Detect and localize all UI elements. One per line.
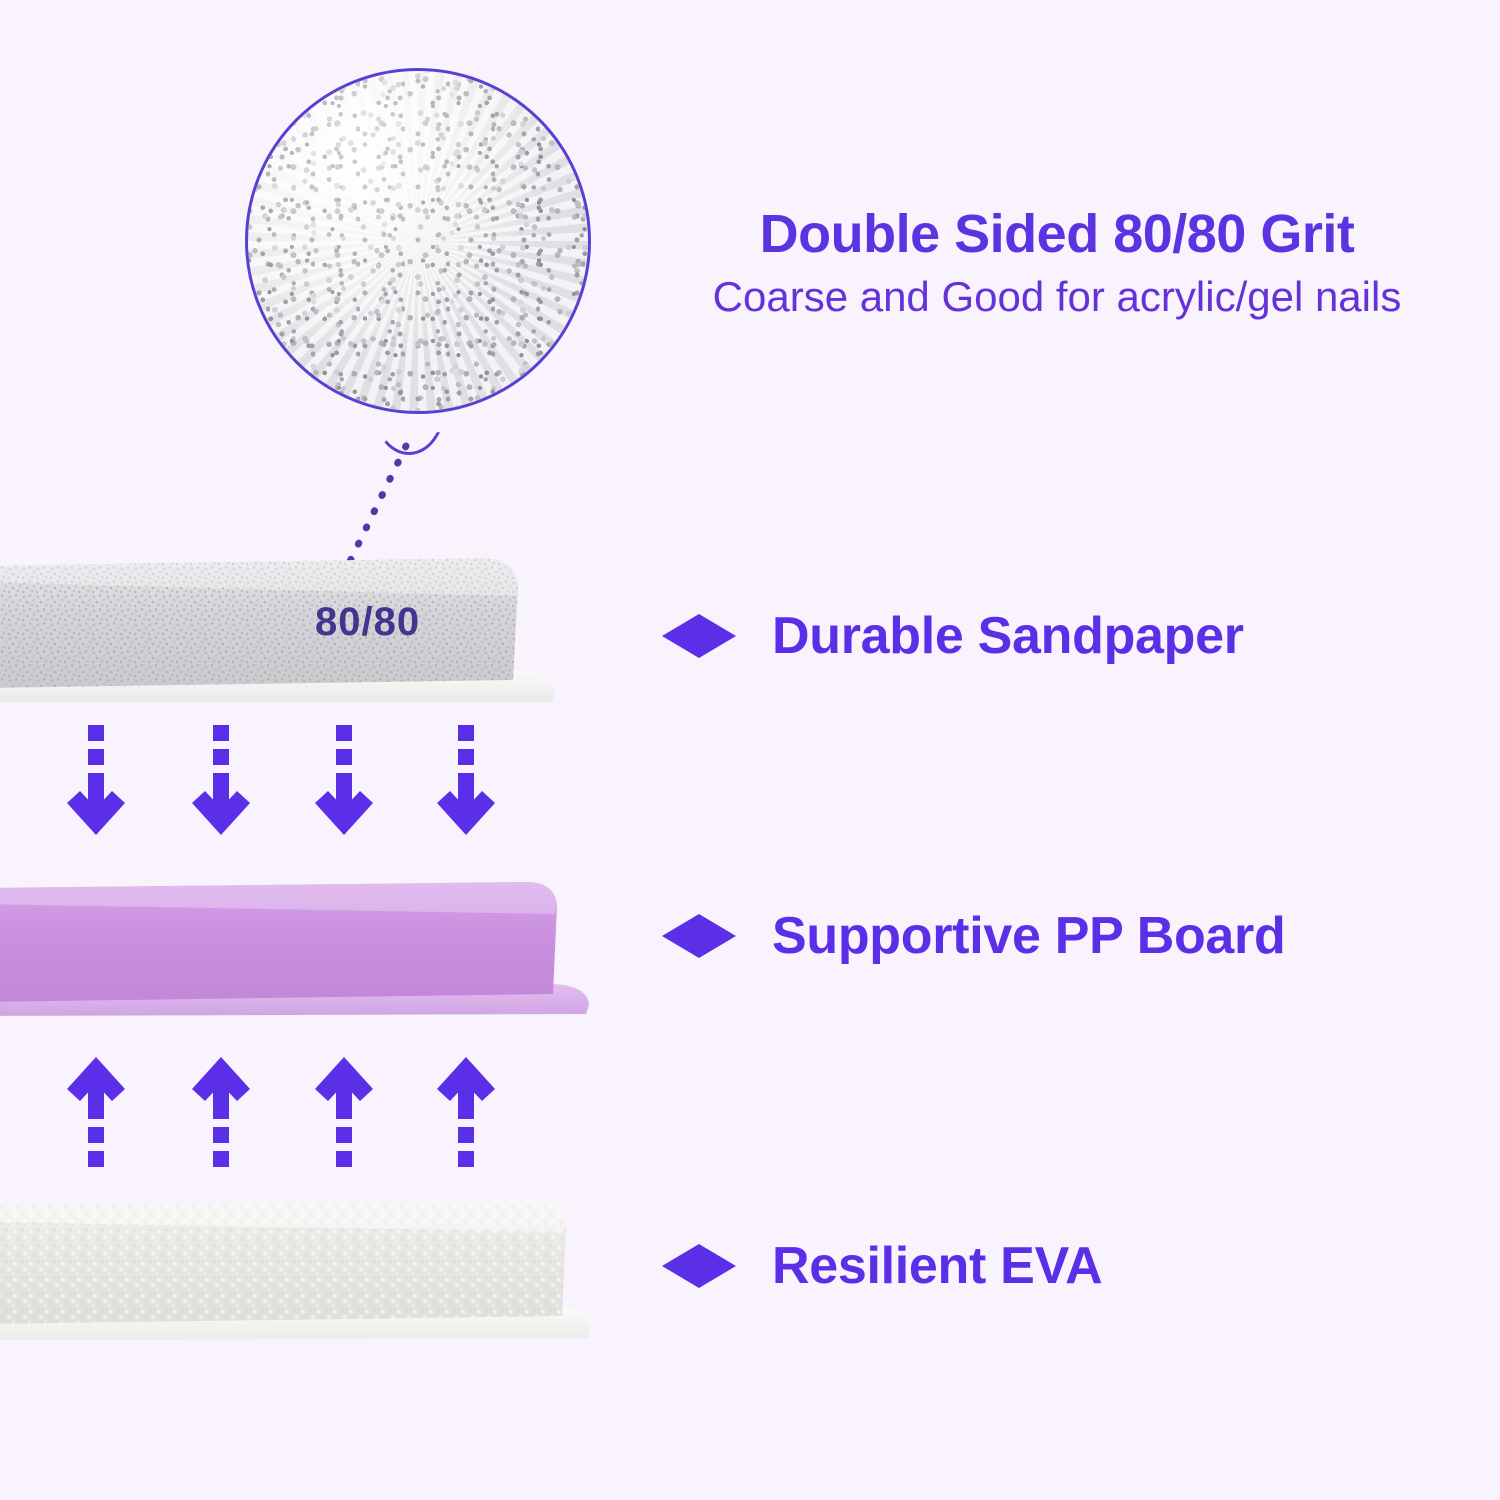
arrow-down-icon	[313, 725, 375, 837]
feature-label-sandpaper: Durable Sandpaper	[772, 606, 1244, 666]
pp-board-layer	[0, 880, 620, 1040]
headline-block: Double Sided 80/80 Grit Coarse and Good …	[652, 204, 1462, 322]
feature-row-sandpaper: Durable Sandpaper	[662, 606, 1244, 666]
arrow-up-icon	[435, 1055, 497, 1167]
feature-label-eva: Resilient EVA	[772, 1236, 1102, 1296]
arrow-up-icon	[190, 1055, 252, 1167]
grit-label: 80/80	[315, 600, 420, 645]
diamond-bullet-icon	[662, 614, 736, 658]
sandpaper-layer	[0, 552, 580, 722]
diamond-bullet-icon	[662, 914, 736, 958]
arrow-up-icon	[65, 1055, 127, 1167]
page-title: Double Sided 80/80 Grit	[652, 204, 1462, 264]
feature-row-eva: Resilient EVA	[662, 1236, 1102, 1296]
arrow-down-icon	[65, 725, 127, 837]
arrow-down-icon	[190, 725, 252, 837]
infographic-canvas: Double Sided 80/80 Grit Coarse and Good …	[0, 0, 1500, 1500]
arrows-up-group	[55, 1055, 505, 1175]
arrow-down-icon	[435, 725, 497, 837]
magnified-sandpaper-circle	[245, 68, 591, 414]
page-subtitle: Coarse and Good for acrylic/gel nails	[652, 272, 1462, 322]
diamond-bullet-icon	[662, 1244, 736, 1288]
eva-layer	[0, 1196, 620, 1371]
feature-row-ppboard: Supportive PP Board	[662, 906, 1285, 966]
arrow-up-icon	[313, 1055, 375, 1167]
feature-label-ppboard: Supportive PP Board	[772, 906, 1285, 966]
circle-sheen-overlay	[248, 71, 588, 411]
arrows-down-group	[55, 725, 505, 845]
